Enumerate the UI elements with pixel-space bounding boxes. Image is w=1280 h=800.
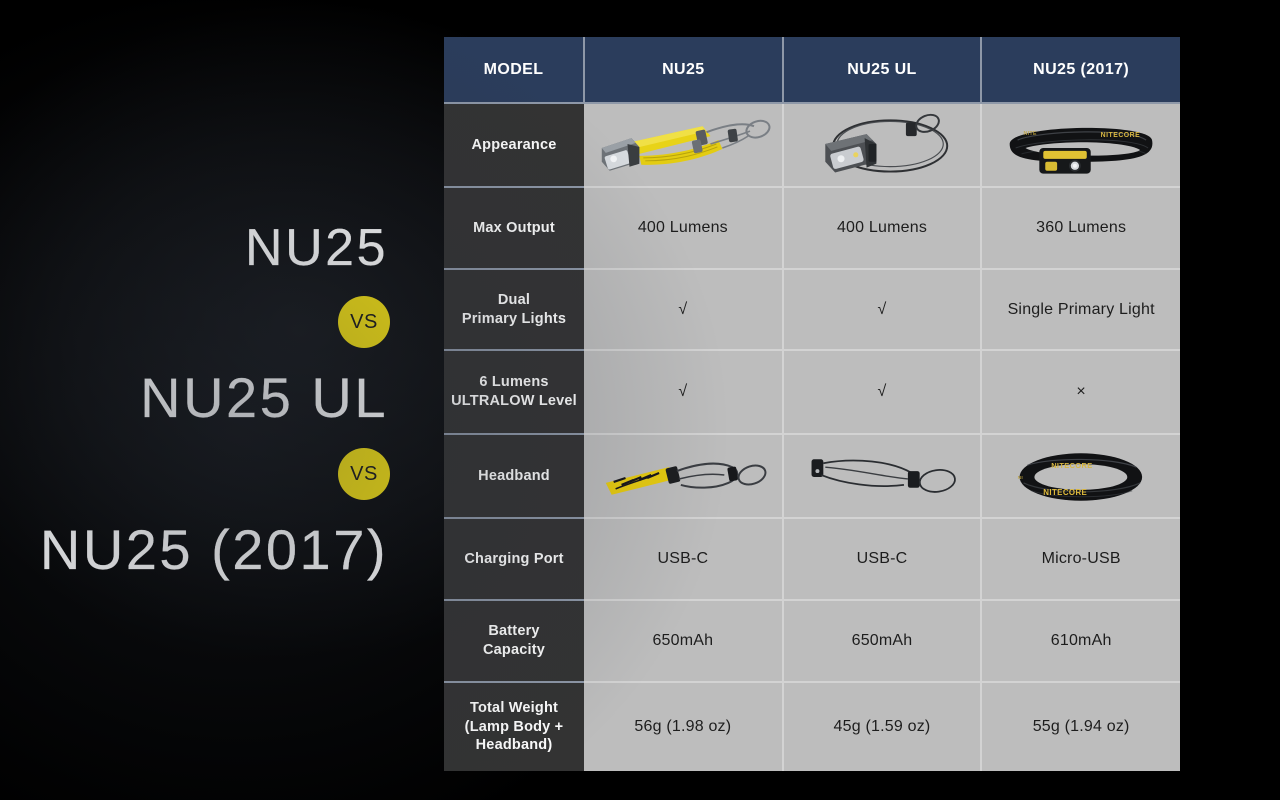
svg-text:NITECORE: NITECORE (1101, 132, 1141, 139)
cell-charging-nu25-2017: Micro-USB (981, 518, 1180, 600)
row-label-line-2: ULTRALOW Level (451, 393, 577, 409)
column-header-nu25-2017: NU25 (2017) (981, 37, 1180, 103)
cell-battery-nu25: 650mAh (584, 600, 783, 682)
row-label-charging-port: Charging Port (444, 518, 584, 600)
row-label-line-3: Headband) (476, 737, 553, 753)
table-row-charging-port: Charging Port USB-C USB-C Micro-USB (444, 518, 1180, 600)
svg-text:NI: NI (1018, 475, 1024, 481)
row-label-line-1: 6 Lumens (479, 374, 548, 390)
cell-headband-nu25-ul (783, 434, 982, 518)
vs-badge-1: VS (338, 296, 390, 348)
table-row-max-output: Max Output 400 Lumens 400 Lumens 360 Lum… (444, 187, 1180, 269)
headband-yellow-flat-icon (584, 435, 782, 517)
table-row-total-weight: Total Weight (Lamp Body + Headband) 56g … (444, 682, 1180, 771)
cell-charging-nu25-ul: USB-C (783, 518, 982, 600)
row-label-appearance: Appearance (444, 103, 584, 187)
cell-dual-nu25-2017: Single Primary Light (981, 269, 1180, 350)
page-background: NU25 VS NU25 UL VS NU25 (2017) MODEL NU2… (0, 0, 1280, 800)
model-title-nu25: NU25 (245, 222, 388, 274)
row-label-line-2: Capacity (483, 642, 545, 658)
column-header-nu25: NU25 (584, 37, 783, 103)
cell-appearance-nu25 (584, 103, 783, 187)
table-row-headband: Headband (444, 434, 1180, 518)
cell-headband-nu25 (584, 434, 783, 518)
svg-text:NITECORE: NITECORE (1044, 488, 1088, 497)
headlamp-nu25-yellow-band-icon (584, 104, 782, 186)
row-label-line-1: Dual (498, 292, 530, 308)
headband-black-nitecore-loop-icon: NITECORE NITECORE NI (982, 435, 1180, 517)
cell-max-output-nu25-2017: 360 Lumens (981, 187, 1180, 269)
model-title-nu25-ul: NU25 UL (140, 370, 388, 426)
headlamp-nu25ul-cord-band-icon (784, 104, 981, 186)
cell-charging-nu25: USB-C (584, 518, 783, 600)
cell-weight-nu25: 56g (1.98 oz) (584, 682, 783, 771)
row-label-max-output: Max Output (444, 187, 584, 269)
table-row-ultralow-level: 6 Lumens ULTRALOW Level √ √ × (444, 350, 1180, 434)
comparison-table: MODEL NU25 NU25 UL NU25 (2017) Appearanc… (444, 37, 1180, 771)
cell-battery-nu25-ul: 650mAh (783, 600, 982, 682)
row-label-total-weight: Total Weight (Lamp Body + Headband) (444, 682, 584, 771)
headband-black-cord-icon (784, 435, 981, 517)
table-header-row: MODEL NU25 NU25 UL NU25 (2017) (444, 37, 1180, 103)
cell-weight-nu25-2017: 55g (1.94 oz) (981, 682, 1180, 771)
vs-badge-2: VS (338, 448, 390, 500)
column-header-model: MODEL (444, 37, 584, 103)
cell-ultralow-nu25-ul: √ (783, 350, 982, 434)
cell-appearance-nu25-2017: NITECORE NITE (981, 103, 1180, 187)
svg-text:NITECORE: NITECORE (1052, 461, 1093, 470)
svg-text:NITE: NITE (1024, 131, 1037, 137)
cell-dual-nu25: √ (584, 269, 783, 350)
cell-max-output-nu25: 400 Lumens (584, 187, 783, 269)
row-label-line-1: Battery (488, 623, 539, 639)
row-label-line-2: Primary Lights (462, 311, 566, 327)
table-row-battery-capacity: Battery Capacity 650mAh 650mAh 610mAh (444, 600, 1180, 682)
headlamp-nu25-2017-black-band-icon: NITECORE NITE (982, 104, 1180, 186)
row-label-ultralow-level: 6 Lumens ULTRALOW Level (444, 350, 584, 434)
model-title-nu25-2017: NU25 (2017) (40, 522, 388, 578)
table-row-dual-primary-lights: Dual Primary Lights √ √ Single Primary L… (444, 269, 1180, 350)
cell-ultralow-nu25-2017: × (981, 350, 1180, 434)
cell-appearance-nu25-ul (783, 103, 982, 187)
row-label-line-1: Total Weight (470, 700, 558, 716)
row-label-headband: Headband (444, 434, 584, 518)
column-header-nu25-ul: NU25 UL (783, 37, 982, 103)
cell-ultralow-nu25: √ (584, 350, 783, 434)
row-label-battery-capacity: Battery Capacity (444, 600, 584, 682)
row-label-dual-primary-lights: Dual Primary Lights (444, 269, 584, 350)
table-row-appearance: Appearance (444, 103, 1180, 187)
cell-headband-nu25-2017: NITECORE NITECORE NI (981, 434, 1180, 518)
cell-max-output-nu25-ul: 400 Lumens (783, 187, 982, 269)
cell-dual-nu25-ul: √ (783, 269, 982, 350)
row-label-line-2: (Lamp Body + (465, 719, 564, 735)
cell-weight-nu25-ul: 45g (1.59 oz) (783, 682, 982, 771)
versus-panel: NU25 VS NU25 UL VS NU25 (2017) (0, 0, 444, 800)
cell-battery-nu25-2017: 610mAh (981, 600, 1180, 682)
